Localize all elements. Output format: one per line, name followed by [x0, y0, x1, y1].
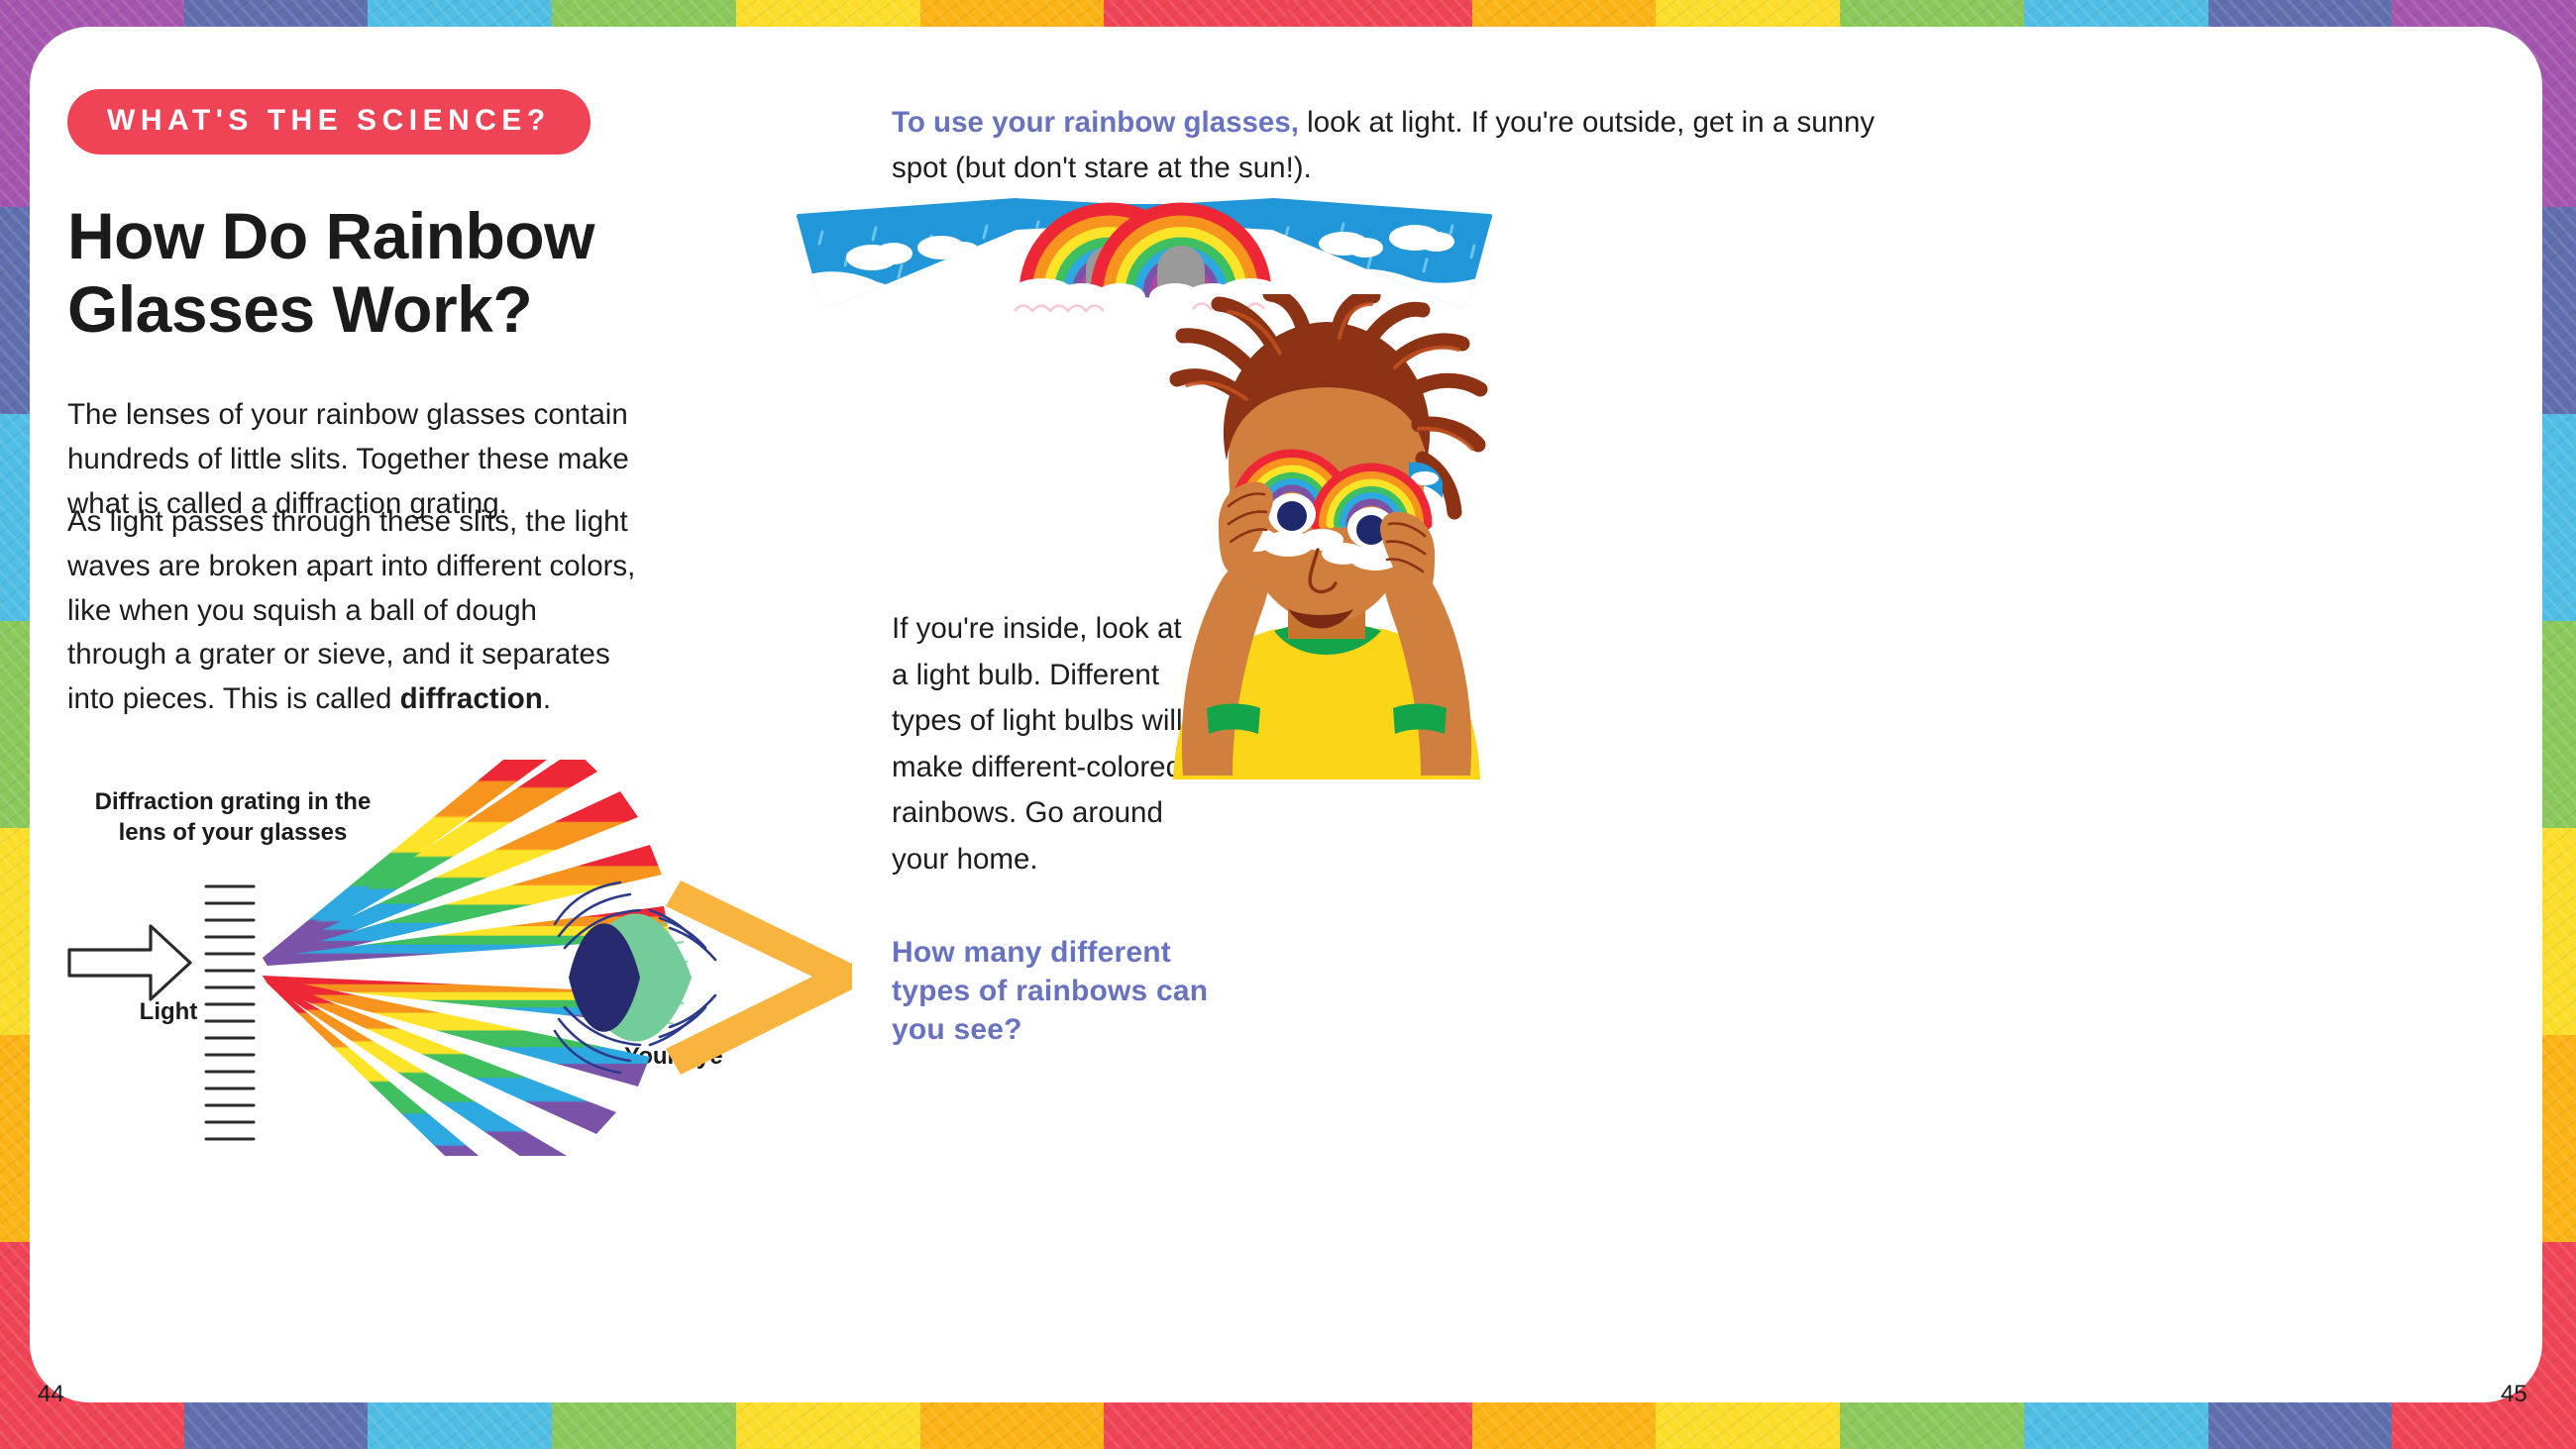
diffraction-term: diffraction	[400, 682, 543, 715]
page-number-right: 45	[2501, 1381, 2527, 1408]
section-banner: WHAT'S THE SCIENCE?	[67, 89, 590, 155]
question-prompt: How many different types of rainbows can…	[892, 933, 1219, 1049]
page-number-left: 44	[38, 1381, 64, 1408]
child-illustration	[1149, 294, 1496, 779]
eye-illustration	[555, 880, 852, 1075]
right-wristband	[1393, 704, 1447, 735]
paragraph-diffraction: As light passes through these slits, the…	[67, 500, 644, 722]
left-pupil	[1277, 501, 1307, 531]
grating-lines	[206, 886, 254, 1139]
eye-outline-triangle	[666, 880, 852, 1075]
para2-text-b: .	[543, 682, 551, 715]
left-wristband	[1207, 704, 1260, 735]
book-spread: WHAT'S THE SCIENCE? How Do Rainbow Glass…	[0, 0, 2576, 1449]
page-card: WHAT'S THE SCIENCE? How Do Rainbow Glass…	[30, 27, 2542, 1402]
inside-paragraph: If you're inside, look at a light bulb. …	[892, 606, 1189, 883]
page-title: How Do Rainbow Glasses Work?	[67, 200, 761, 347]
light-arrow	[69, 926, 190, 999]
intro-lead-in: To use your rainbow glasses,	[892, 106, 1299, 139]
